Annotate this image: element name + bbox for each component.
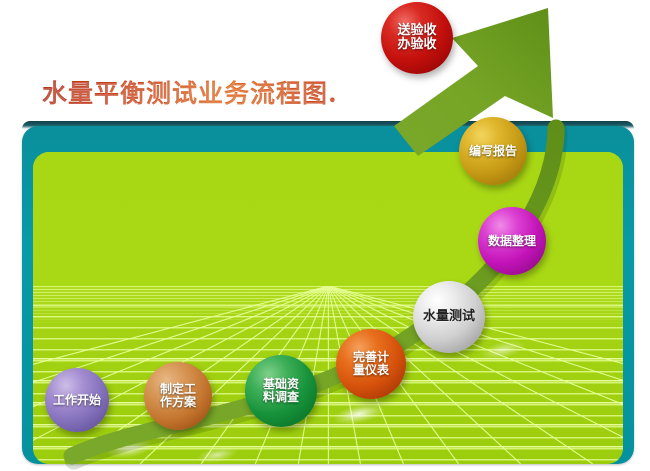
flow-node-label: 完善计量仪表 <box>351 351 391 377</box>
flow-node-meter[interactable]: 完善计量仪表 <box>336 329 406 399</box>
flow-node-report[interactable]: 编写报告 <box>459 117 527 185</box>
flow-node-test[interactable]: 水量测试 <box>413 281 485 353</box>
grid-perspective-lines <box>33 286 623 464</box>
flow-node-label: 送验收办验收 <box>395 24 438 52</box>
page-title: 水量平衡测试业务流程图. <box>42 74 338 110</box>
flow-node-survey[interactable]: 基础资料调查 <box>245 355 317 427</box>
flow-node-label: 工作开始 <box>51 394 103 407</box>
flow-node-label: 数据整理 <box>486 235 538 248</box>
green-panel <box>33 152 623 464</box>
flow-node-accept[interactable]: 送验收办验收 <box>381 2 453 74</box>
flow-node-label: 编写报告 <box>467 145 519 158</box>
flow-node-plan[interactable]: 制定工作方案 <box>144 362 212 430</box>
flow-node-label: 基础资料调查 <box>261 378 301 404</box>
flow-node-label: 水量测试 <box>421 310 477 324</box>
flow-node-label: 制定工作方案 <box>158 383 198 409</box>
flow-node-start[interactable]: 工作开始 <box>45 368 109 432</box>
flow-node-data[interactable]: 数据整理 <box>478 207 546 275</box>
slide-canvas: 水量平衡测试业务流程图. <box>0 0 650 471</box>
